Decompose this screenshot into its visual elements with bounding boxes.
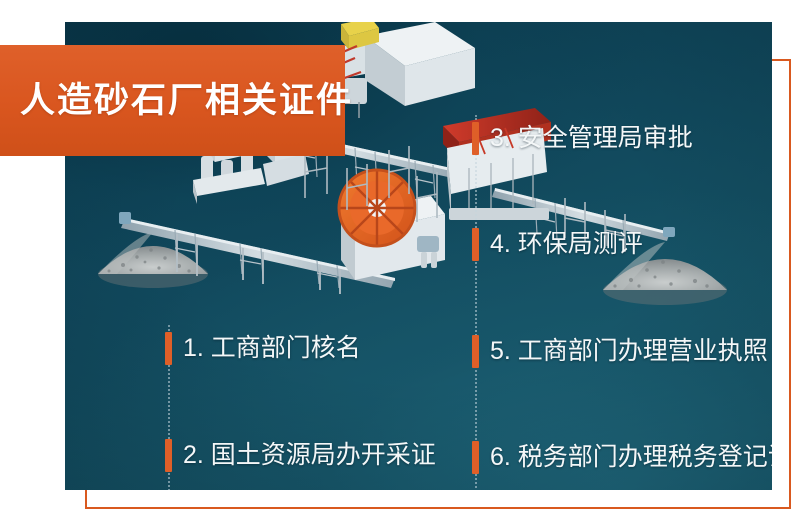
list-item-label: 1. 工商部门核名: [183, 336, 361, 361]
list-item[interactable]: 2. 国土资源局办开采证: [165, 436, 436, 474]
list-item[interactable]: 6. 税务部门办理税务登记证: [472, 438, 772, 476]
bullet-marker-icon: [165, 332, 172, 365]
bullet-marker-icon: [472, 122, 479, 155]
frame-border-right: [789, 59, 791, 509]
list-item[interactable]: 5. 工商部门办理营业执照: [472, 332, 768, 370]
bullet-marker-icon: [165, 439, 172, 472]
list-item[interactable]: 1. 工商部门核名: [165, 329, 361, 367]
list-item-label: 5. 工商部门办理营业执照: [490, 339, 768, 364]
list-column-right: 3. 安全管理局审批 4. 环保局测评 5. 工商部门办理营业执照 6. 税务部…: [475, 107, 772, 490]
list-item-label: 3. 安全管理局审批: [490, 126, 693, 151]
list-item-label: 4. 环保局测评: [490, 232, 643, 257]
bullet-marker-icon: [472, 335, 479, 368]
list-item-label: 2. 国土资源局办开采证: [183, 443, 436, 468]
bullet-marker-icon: [472, 441, 479, 474]
page-title: 人造砂石厂相关证件: [20, 83, 353, 118]
list-item-label: 6. 税务部门办理税务登记证: [490, 445, 772, 470]
frame-border-bottom: [85, 507, 791, 509]
dotted-connector-right: [475, 115, 479, 490]
title-banner: 人造砂石厂相关证件: [0, 45, 345, 156]
poster-canvas: 1. 工商部门核名 2. 国土资源局办开采证 3. 安全管理局审批 4. 环保局…: [0, 0, 800, 530]
bullet-marker-icon: [472, 228, 479, 261]
list-item[interactable]: 3. 安全管理局审批: [472, 119, 693, 157]
list-item[interactable]: 4. 环保局测评: [472, 225, 643, 263]
list-column-left: 1. 工商部门核名 2. 国土资源局办开采证: [168, 177, 468, 490]
